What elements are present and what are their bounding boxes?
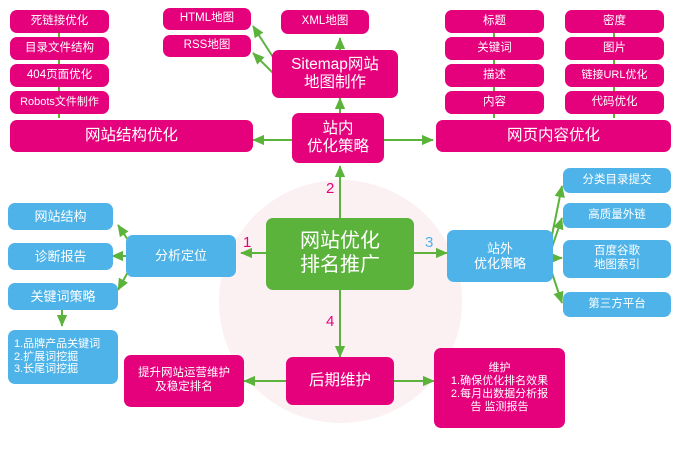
node-center-hub[interactable]: 网站优化 排名推广	[266, 218, 414, 290]
diagram-canvas: 死链接优化 目录文件结构 404页面优化 Robots文件制作 网站结构优化 H…	[0, 0, 680, 449]
node-offsite-child-2[interactable]: 百度谷歌 地图索引	[563, 240, 671, 278]
node-offsite-hub[interactable]: 站外 优化策略	[447, 230, 553, 282]
step-number-2: 2	[326, 180, 334, 197]
node-structure-title[interactable]: 网站结构优化	[10, 120, 253, 152]
node-sitemap-title[interactable]: Sitemap网站 地图制作	[272, 50, 398, 98]
node-analysis-child-2[interactable]: 关键词策略	[8, 283, 118, 310]
node-content-left-0[interactable]: 标题	[445, 10, 544, 33]
node-structure-item-1[interactable]: 目录文件结构	[10, 37, 109, 60]
node-analysis-child-1[interactable]: 诊断报告	[8, 243, 113, 270]
node-sitemap-html[interactable]: HTML地图	[163, 8, 251, 30]
node-offsite-child-3[interactable]: 第三方平台	[563, 292, 671, 317]
node-content-left-2[interactable]: 描述	[445, 64, 544, 87]
step-number-1: 1	[243, 234, 251, 251]
node-analysis-detail[interactable]: 1.品牌产品关键词 2.扩展词挖掘 3.长尾词挖掘	[8, 330, 118, 384]
node-maintenance-right[interactable]: 维护 1.确保优化排名效果 2.每月出数据分析报 告 监测报告	[434, 348, 565, 428]
node-content-right-1[interactable]: 图片	[565, 37, 664, 60]
step-number-4: 4	[326, 313, 334, 330]
node-content-right-3[interactable]: 代码优化	[565, 91, 664, 114]
node-content-right-2[interactable]: 链接URL优化	[565, 64, 664, 87]
node-content-left-1[interactable]: 关键词	[445, 37, 544, 60]
node-structure-item-0[interactable]: 死链接优化	[10, 10, 109, 33]
step-number-3: 3	[425, 234, 433, 251]
node-analysis-hub[interactable]: 分析定位	[126, 235, 236, 277]
node-content-right-0[interactable]: 密度	[565, 10, 664, 33]
node-maintenance-hub[interactable]: 后期维护	[286, 357, 394, 405]
node-content-title[interactable]: 网页内容优化	[436, 120, 671, 152]
node-onsite-hub[interactable]: 站内 优化策略	[292, 113, 384, 163]
node-structure-item-3[interactable]: Robots文件制作	[10, 91, 109, 114]
node-maintenance-left[interactable]: 提升网站运营维护 及稳定排名	[124, 355, 244, 407]
node-structure-item-2[interactable]: 404页面优化	[10, 64, 109, 87]
node-analysis-child-0[interactable]: 网站结构	[8, 203, 113, 230]
node-sitemap-xml[interactable]: XML地图	[281, 10, 369, 34]
node-content-left-3[interactable]: 内容	[445, 91, 544, 114]
node-sitemap-rss[interactable]: RSS地图	[163, 35, 251, 57]
node-offsite-child-0[interactable]: 分类目录提交	[563, 168, 671, 193]
node-offsite-child-1[interactable]: 高质量外链	[563, 203, 671, 228]
